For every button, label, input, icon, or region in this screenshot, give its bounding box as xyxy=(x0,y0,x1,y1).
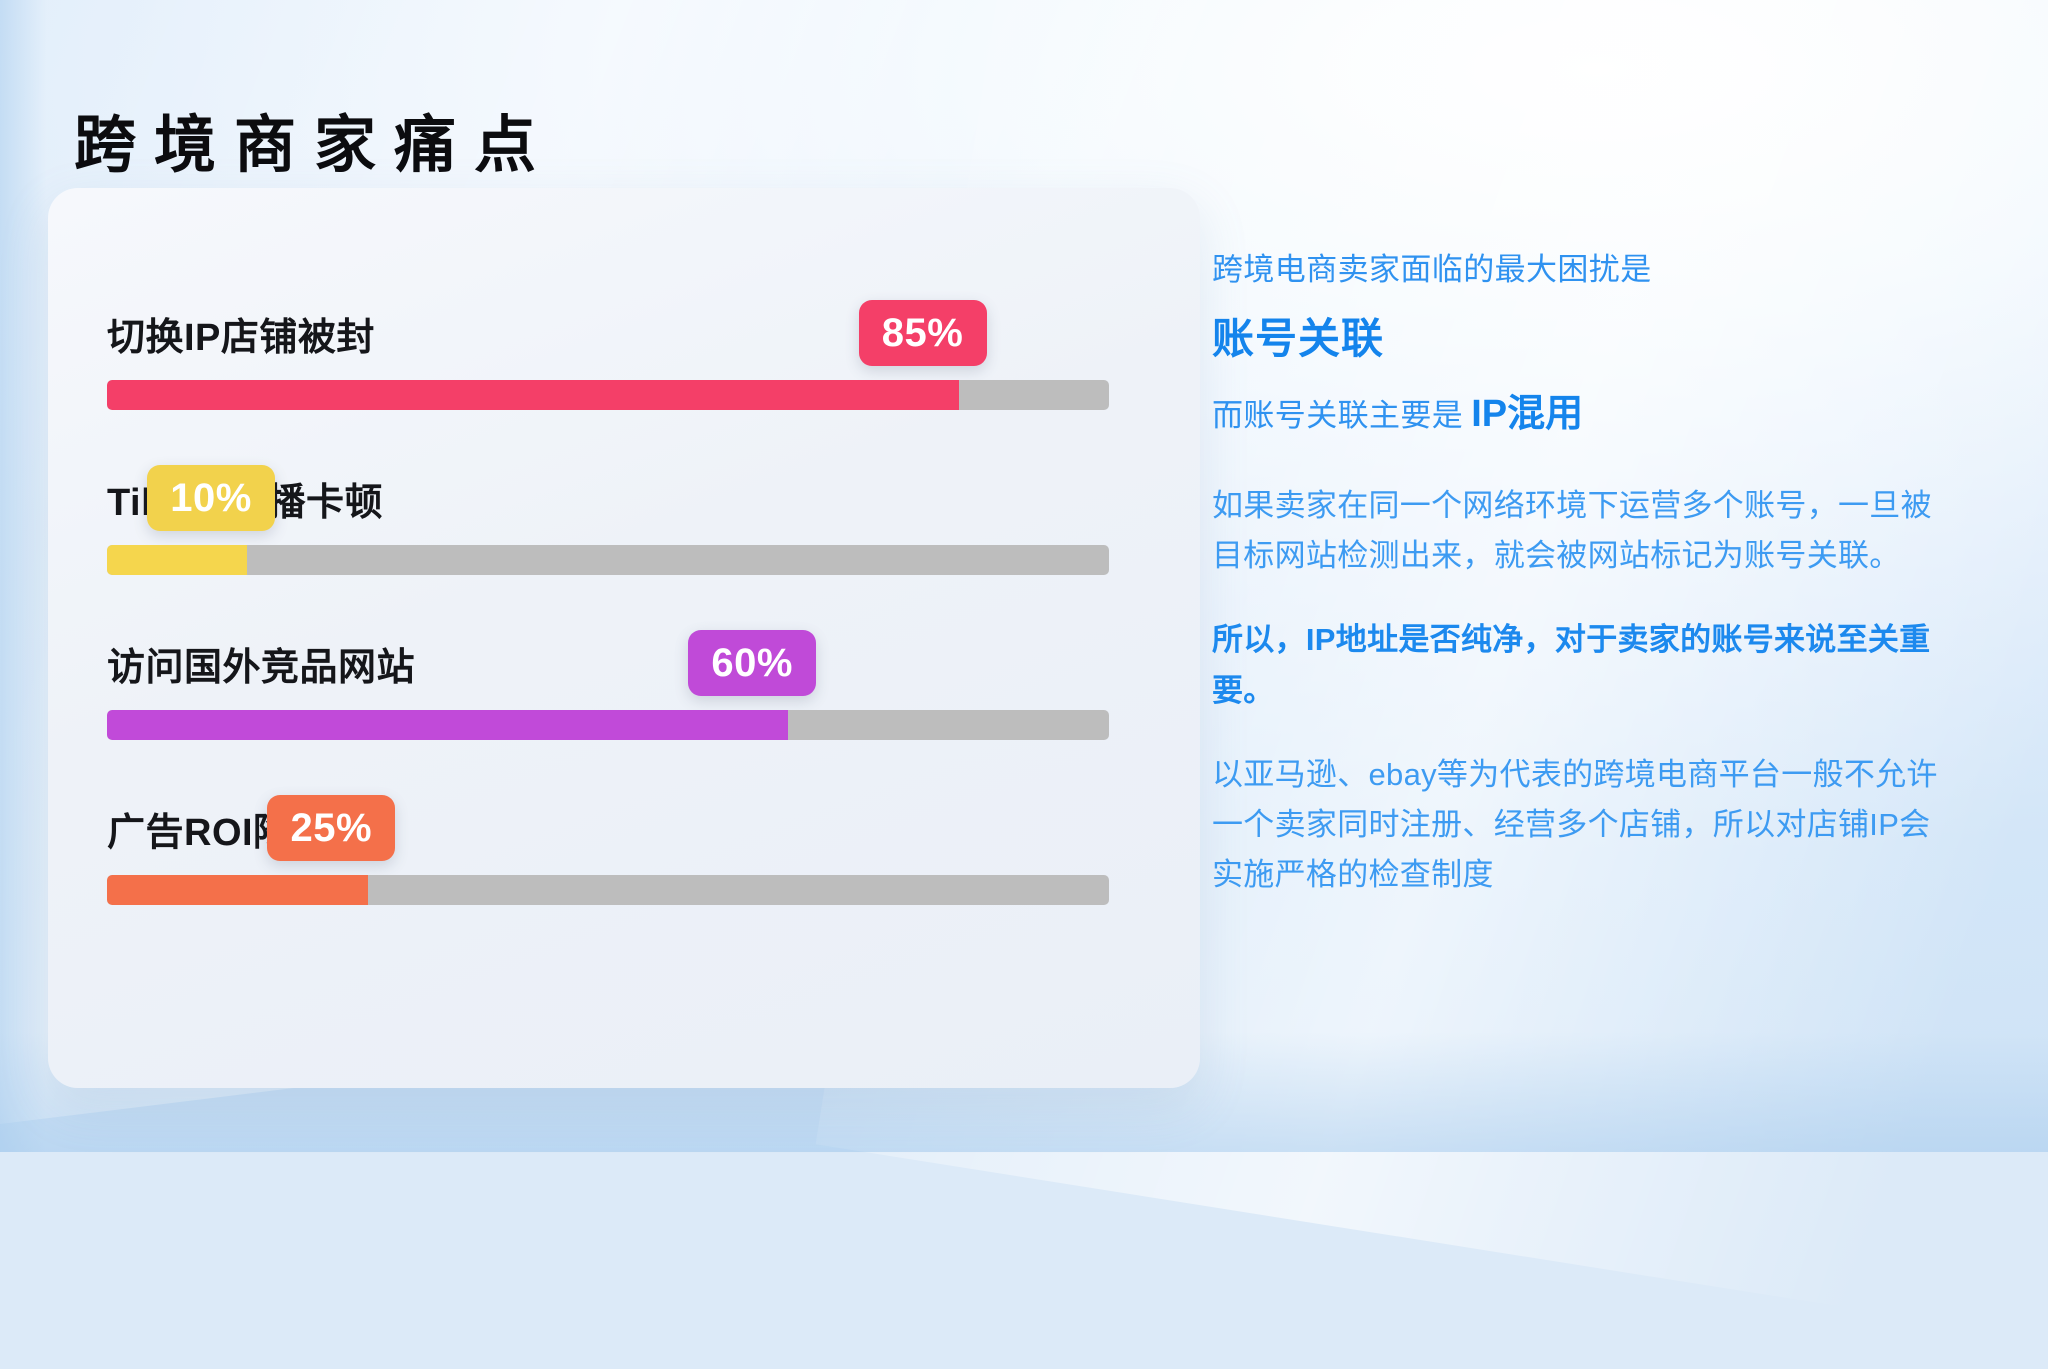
bar-track xyxy=(107,710,1109,740)
lead-emphasis: 账号关联 xyxy=(1212,305,1952,366)
bar-head: 广告ROI降低25% xyxy=(107,795,1109,861)
lead-line: 跨境电商卖家面临的最大困扰是 xyxy=(1212,248,1952,293)
bar-fill xyxy=(107,380,959,410)
info-panel: 跨境电商卖家面临的最大困扰是 账号关联 而账号关联主要是IP混用 如果卖家在同一… xyxy=(1212,248,1952,900)
bar-value-badge: 85% xyxy=(859,300,987,366)
page-title: 跨境商家痛点 xyxy=(74,110,554,181)
bar-fill xyxy=(107,710,788,740)
bar-group: 切换IP店铺被封85% xyxy=(107,300,1109,410)
bar-head: 切换IP店铺被封85% xyxy=(107,300,1109,366)
bar-value-badge: 25% xyxy=(267,795,395,861)
bar-track xyxy=(107,875,1109,905)
bar-track xyxy=(107,380,1109,410)
bar-head: 访问国外竞品网站60% xyxy=(107,630,1109,696)
bar-head: TikTok直播卡顿10% xyxy=(107,465,1109,531)
bar-label: 切换IP店铺被封 xyxy=(107,306,375,361)
lead-sub-prefix: 而账号关联主要是 xyxy=(1212,398,1463,433)
info-paragraph: 以亚马逊、ebay等为代表的跨境电商平台一般不允许一个卖家同时注册、经营多个店铺… xyxy=(1212,750,1952,901)
bar-value-badge: 60% xyxy=(688,630,816,696)
bar-value-badge: 10% xyxy=(147,465,275,531)
info-paragraph: 所以，IP地址是否纯净，对于卖家的账号来说至关重要。 xyxy=(1212,615,1952,715)
info-paragraph-list: 如果卖家在同一个网络环境下运营多个账号，一旦被目标网站检测出来，就会被网站标记为… xyxy=(1212,481,1952,901)
bar-track xyxy=(107,545,1109,575)
bar-label: 访问国外竞品网站 xyxy=(107,636,415,691)
bar-group: TikTok直播卡顿10% xyxy=(107,465,1109,575)
bar-group: 广告ROI降低25% xyxy=(107,795,1109,905)
bar-group: 访问国外竞品网站60% xyxy=(107,630,1109,740)
pain-point-bar-chart: 切换IP店铺被封85%TikTok直播卡顿10%访问国外竞品网站60%广告ROI… xyxy=(107,300,1109,905)
bar-fill xyxy=(107,875,368,905)
lead-sub-strong: IP混用 xyxy=(1471,393,1583,435)
bar-fill xyxy=(107,545,247,575)
lead-sub: 而账号关联主要是IP混用 xyxy=(1212,382,1952,437)
info-paragraph: 如果卖家在同一个网络环境下运营多个账号，一旦被目标网站检测出来，就会被网站标记为… xyxy=(1212,481,1952,581)
